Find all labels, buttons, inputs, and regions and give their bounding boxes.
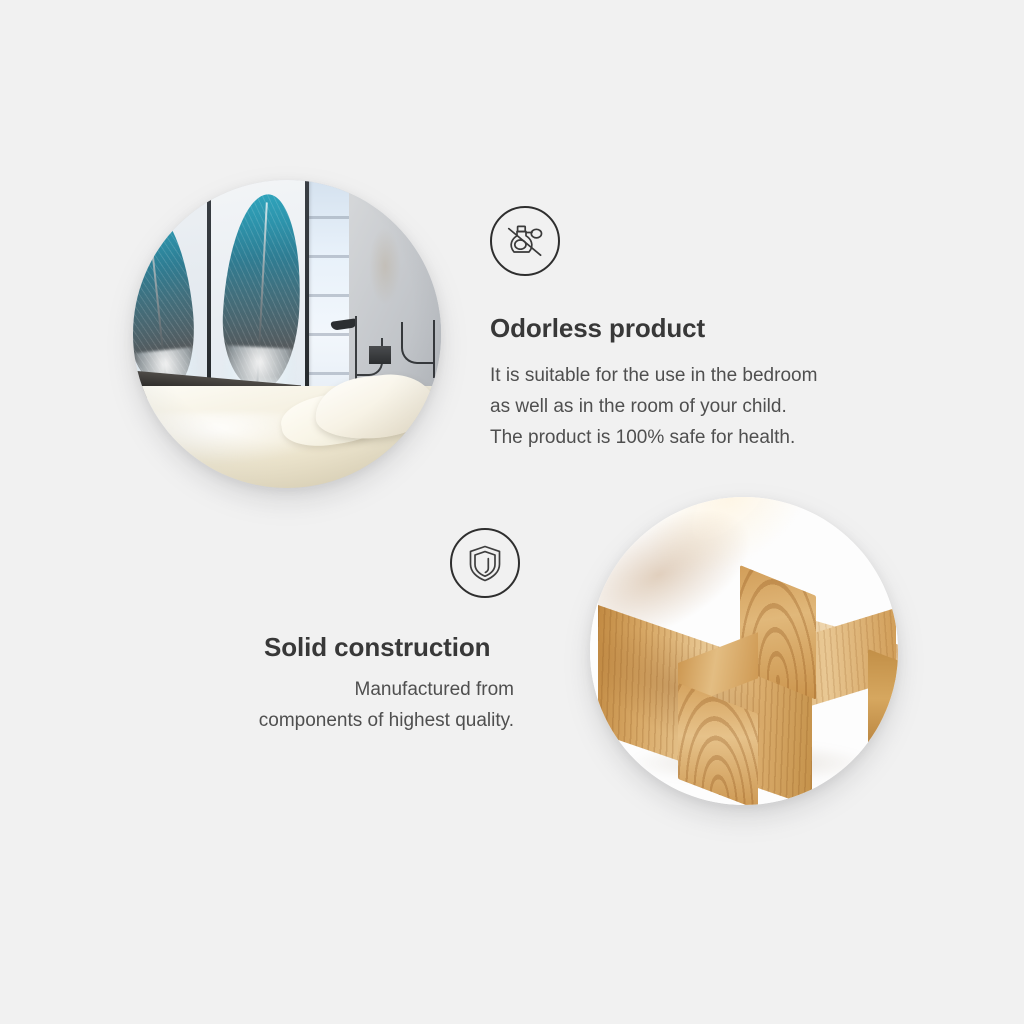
infographic-stage: Odorless product It is suitable for the … (0, 0, 1024, 1024)
odorless-body-line-2: as well as in the room of your child. (490, 391, 817, 422)
shield-glyph (452, 530, 518, 596)
wooden-beams-photo (590, 497, 898, 805)
odorless-title: Odorless product (490, 313, 705, 344)
odorless-body-line-1: It is suitable for the use in the bedroo… (490, 360, 817, 391)
wooden-beams-scene (590, 497, 898, 805)
no-perfume-glyph (492, 208, 558, 274)
solid-body-line-2: components of highest quality. (180, 705, 514, 736)
odorless-body: It is suitable for the use in the bedroo… (490, 360, 817, 453)
solid-construction-body: Manufactured from components of highest … (180, 674, 514, 736)
bedroom-scene (133, 180, 441, 488)
bedroom-feather-art-photo (133, 180, 441, 488)
photo-vignette (133, 180, 441, 488)
solid-construction-title: Solid construction (264, 632, 490, 663)
odorless-body-line-3: The product is 100% safe for health. (490, 422, 817, 453)
no-perfume-icon (490, 206, 560, 276)
shield-icon (450, 528, 520, 598)
right-beam-end-grain (868, 649, 898, 760)
solid-body-line-1: Manufactured from (180, 674, 514, 705)
